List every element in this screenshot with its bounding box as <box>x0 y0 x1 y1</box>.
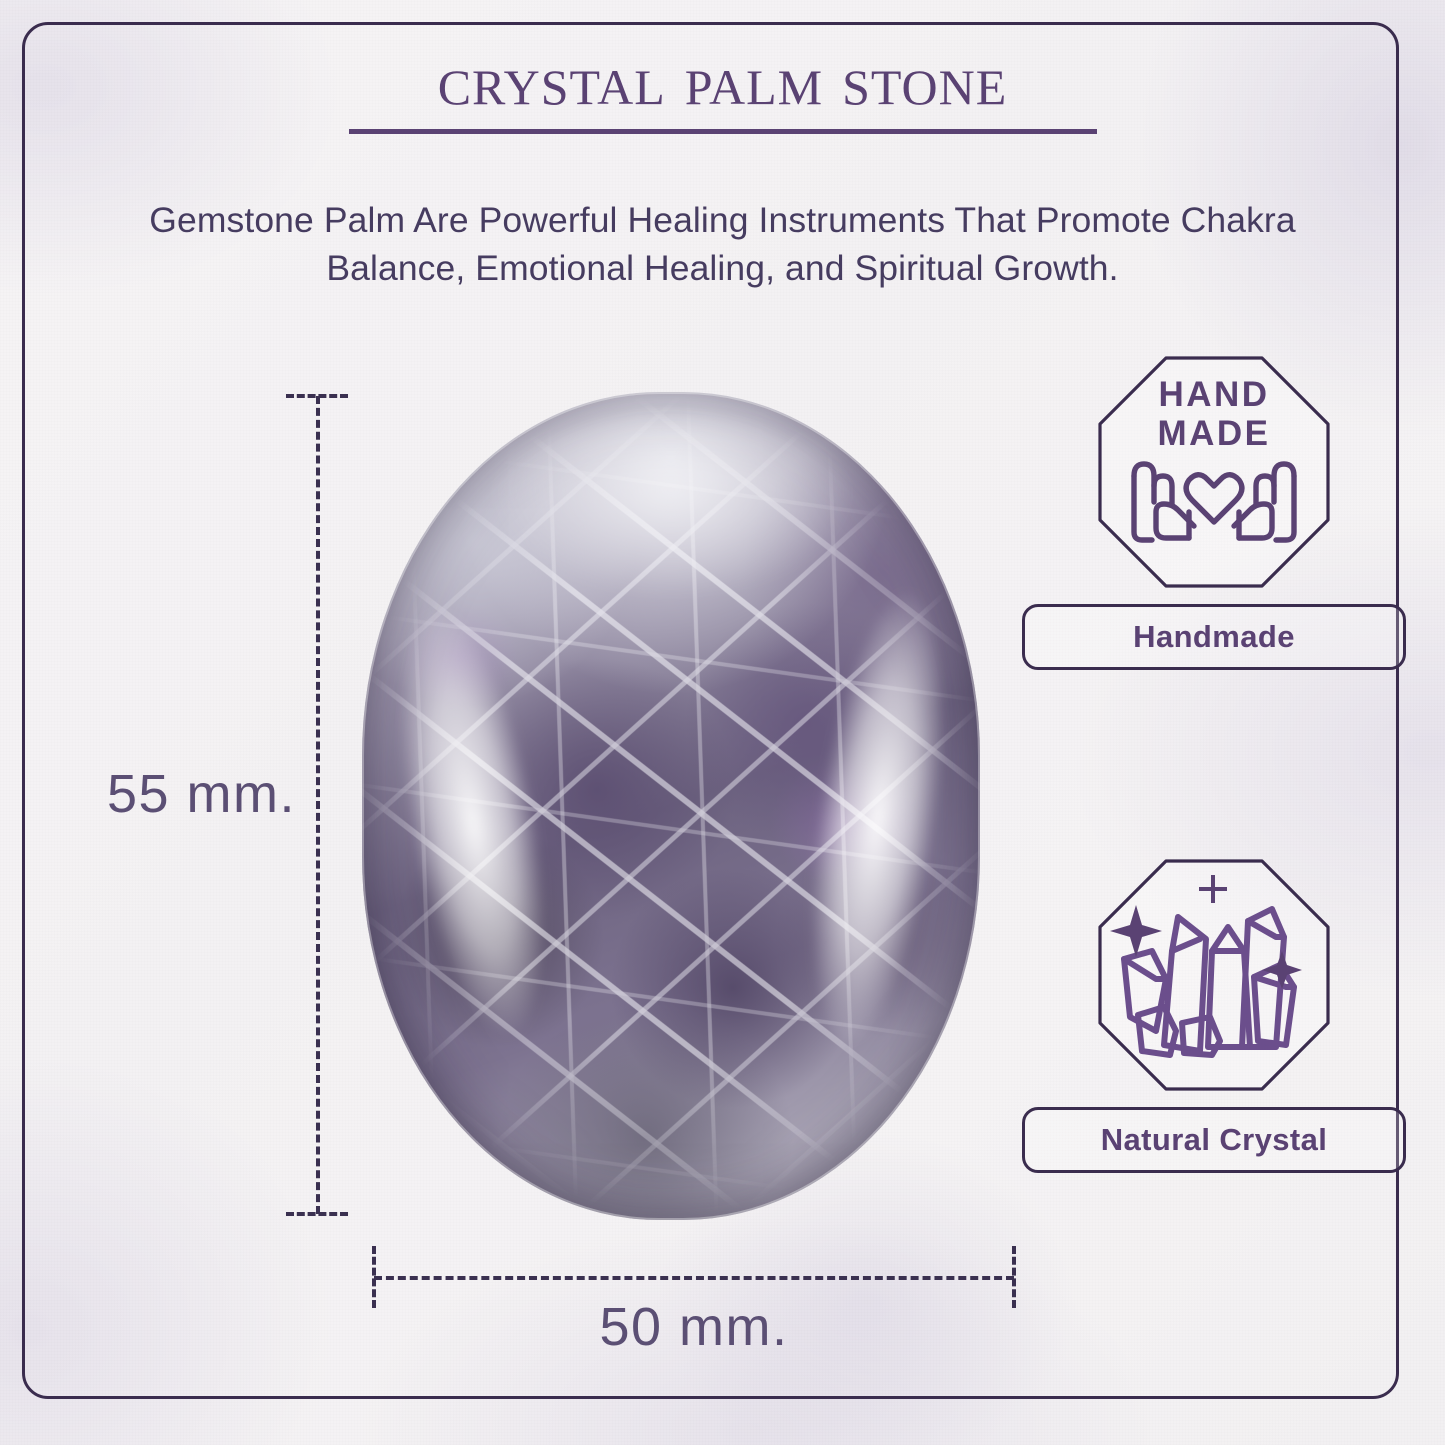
palm-stone-body <box>362 392 980 1220</box>
height-dimension-line <box>316 396 320 1214</box>
handmade-icon-text-line2: MADE <box>1157 414 1270 453</box>
handmade-hands-heart-icon: HAND MADE <box>1094 352 1334 592</box>
infographic-page: Crystal Palm Stone Gemstone Palm Are Pow… <box>0 0 1445 1445</box>
product-image <box>362 392 980 1220</box>
stone-highlight-top <box>486 417 857 599</box>
crystal-cluster-icon <box>1094 855 1334 1095</box>
subtitle-text: Gemstone Palm Are Powerful Healing Instr… <box>120 196 1325 293</box>
handmade-badge-icon-wrap: HAND MADE <box>1022 352 1406 592</box>
badge-handmade: HAND MADE <box>1022 352 1406 670</box>
width-dimension-line <box>374 1276 1014 1280</box>
width-dimension-cap-right <box>1012 1246 1016 1308</box>
handmade-icon-text-line1: HAND <box>1158 375 1269 414</box>
title-underline-rule <box>349 129 1097 134</box>
title-block: Crystal Palm Stone <box>0 44 1445 134</box>
width-dimension-label: 50 mm. <box>474 1296 914 1358</box>
crystal-badge-icon-wrap <box>1022 855 1406 1095</box>
height-dimension-label: 55 mm. <box>56 763 296 825</box>
natural-crystal-badge-label: Natural Crystal <box>1022 1107 1406 1173</box>
handmade-badge-label: Handmade <box>1022 604 1406 670</box>
height-dimension-cap-bottom <box>286 1212 348 1216</box>
page-title: Crystal Palm Stone <box>0 44 1445 116</box>
badge-natural-crystal: Natural Crystal <box>1022 855 1406 1173</box>
